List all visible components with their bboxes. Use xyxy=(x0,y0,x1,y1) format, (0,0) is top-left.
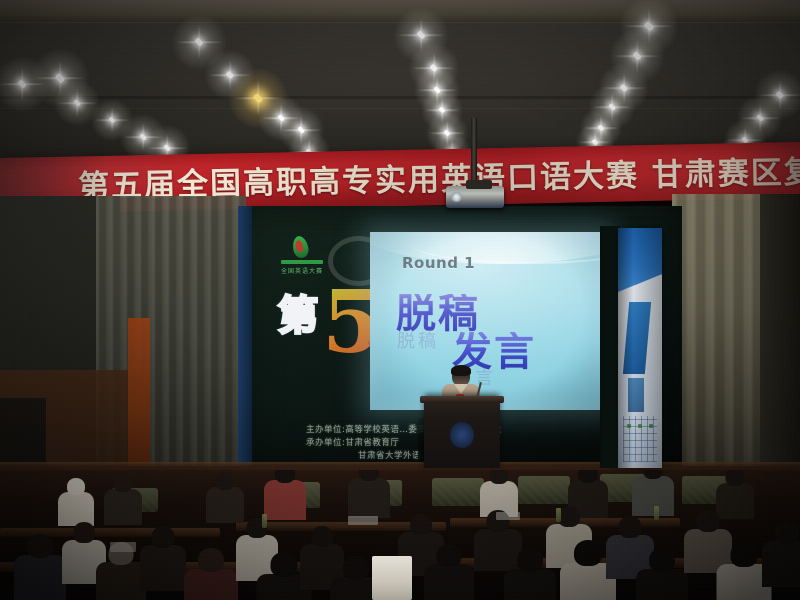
paper-sheet xyxy=(348,516,378,525)
audience-member xyxy=(424,544,474,600)
audience-member xyxy=(762,522,800,590)
audience-member-head xyxy=(73,522,95,543)
logo-caption: 全国英语大赛 xyxy=(281,266,323,275)
audience-member-head xyxy=(270,552,297,577)
audience-member xyxy=(632,470,674,519)
audience-member xyxy=(104,474,142,528)
audience-member-head xyxy=(198,548,224,572)
projection-screen: Round 1 脱稿 脱稿 发言 发言 xyxy=(370,232,608,410)
organizer-logo-icon: 全国英语大赛 xyxy=(281,236,323,276)
audience-member-head xyxy=(490,470,509,484)
audience-member-torso xyxy=(504,569,556,600)
audience-member-torso xyxy=(762,541,800,587)
projector-bracket xyxy=(466,180,492,189)
banner-shadow-right xyxy=(725,142,800,200)
logo-flame-icon xyxy=(291,235,310,260)
audience-member-torso xyxy=(632,476,674,516)
audience-member-head xyxy=(578,470,598,483)
audience-member-head xyxy=(27,534,53,558)
audience-member xyxy=(636,548,688,600)
audience-member-head xyxy=(152,526,175,548)
paper-sheet xyxy=(110,542,136,552)
audience-member xyxy=(348,470,390,521)
audience-member-torso xyxy=(264,480,306,520)
podium-emblem-icon xyxy=(450,422,474,448)
audience-member-torso xyxy=(140,545,186,591)
auditorium-photo: 第五届全国高职高专实用英语口语大赛 甘肃赛区复赛 全国英语大赛 第 5 主办单位… xyxy=(0,0,800,600)
audience-member-torso xyxy=(104,489,142,525)
audience-member-head xyxy=(67,478,85,495)
ceiling-beam xyxy=(0,96,800,99)
logo-bar xyxy=(281,260,323,264)
audience-member xyxy=(184,548,238,600)
backdrop-edition-char: 第 xyxy=(278,296,318,336)
water-bottle xyxy=(654,506,659,520)
audience-member xyxy=(14,534,66,600)
paper-sheet xyxy=(496,512,520,520)
audience-member-head xyxy=(775,522,799,544)
speaking-podium xyxy=(424,396,500,468)
audience-member-head xyxy=(730,542,757,567)
speaker-hair xyxy=(451,365,471,376)
audience-member-head xyxy=(517,548,543,572)
audience-member-torso xyxy=(348,478,390,518)
ceiling-mounted-projector xyxy=(446,186,504,208)
audience-member-head xyxy=(726,470,745,486)
right-wall xyxy=(760,194,800,494)
audience-member-head xyxy=(574,540,602,566)
audience-member-torso xyxy=(424,564,474,600)
projector-lens-icon xyxy=(451,192,462,202)
audience-member-head xyxy=(649,548,675,572)
audience-member-torso xyxy=(58,492,94,526)
water-bottle xyxy=(556,508,561,522)
audience-member xyxy=(140,526,186,594)
white-bag xyxy=(372,556,412,600)
vbanner-shadow-overlay xyxy=(618,228,662,468)
audience-member-head xyxy=(558,506,580,527)
audience-member-head xyxy=(275,470,295,483)
audience-member xyxy=(264,470,306,523)
audience-member-head xyxy=(619,516,642,538)
screen-vignette xyxy=(370,232,608,410)
audience-member-torso xyxy=(636,569,688,600)
audience-member-head xyxy=(343,556,369,580)
audience-member-head xyxy=(216,472,235,490)
audience-member-torso xyxy=(184,569,238,600)
audience-member-torso xyxy=(14,555,66,600)
audience-chairback xyxy=(432,478,484,506)
audience-member-head xyxy=(311,526,333,547)
audience-chairback xyxy=(518,476,570,504)
audience-member-head xyxy=(437,544,462,567)
water-bottle xyxy=(262,514,267,528)
audience-member-head xyxy=(410,514,432,535)
audience-member-torso xyxy=(96,562,146,600)
podium-top-surface xyxy=(420,396,504,403)
backdrop-right-dark-panel xyxy=(600,226,620,468)
audience-member-head xyxy=(697,510,720,532)
audience-member-head xyxy=(114,474,133,492)
